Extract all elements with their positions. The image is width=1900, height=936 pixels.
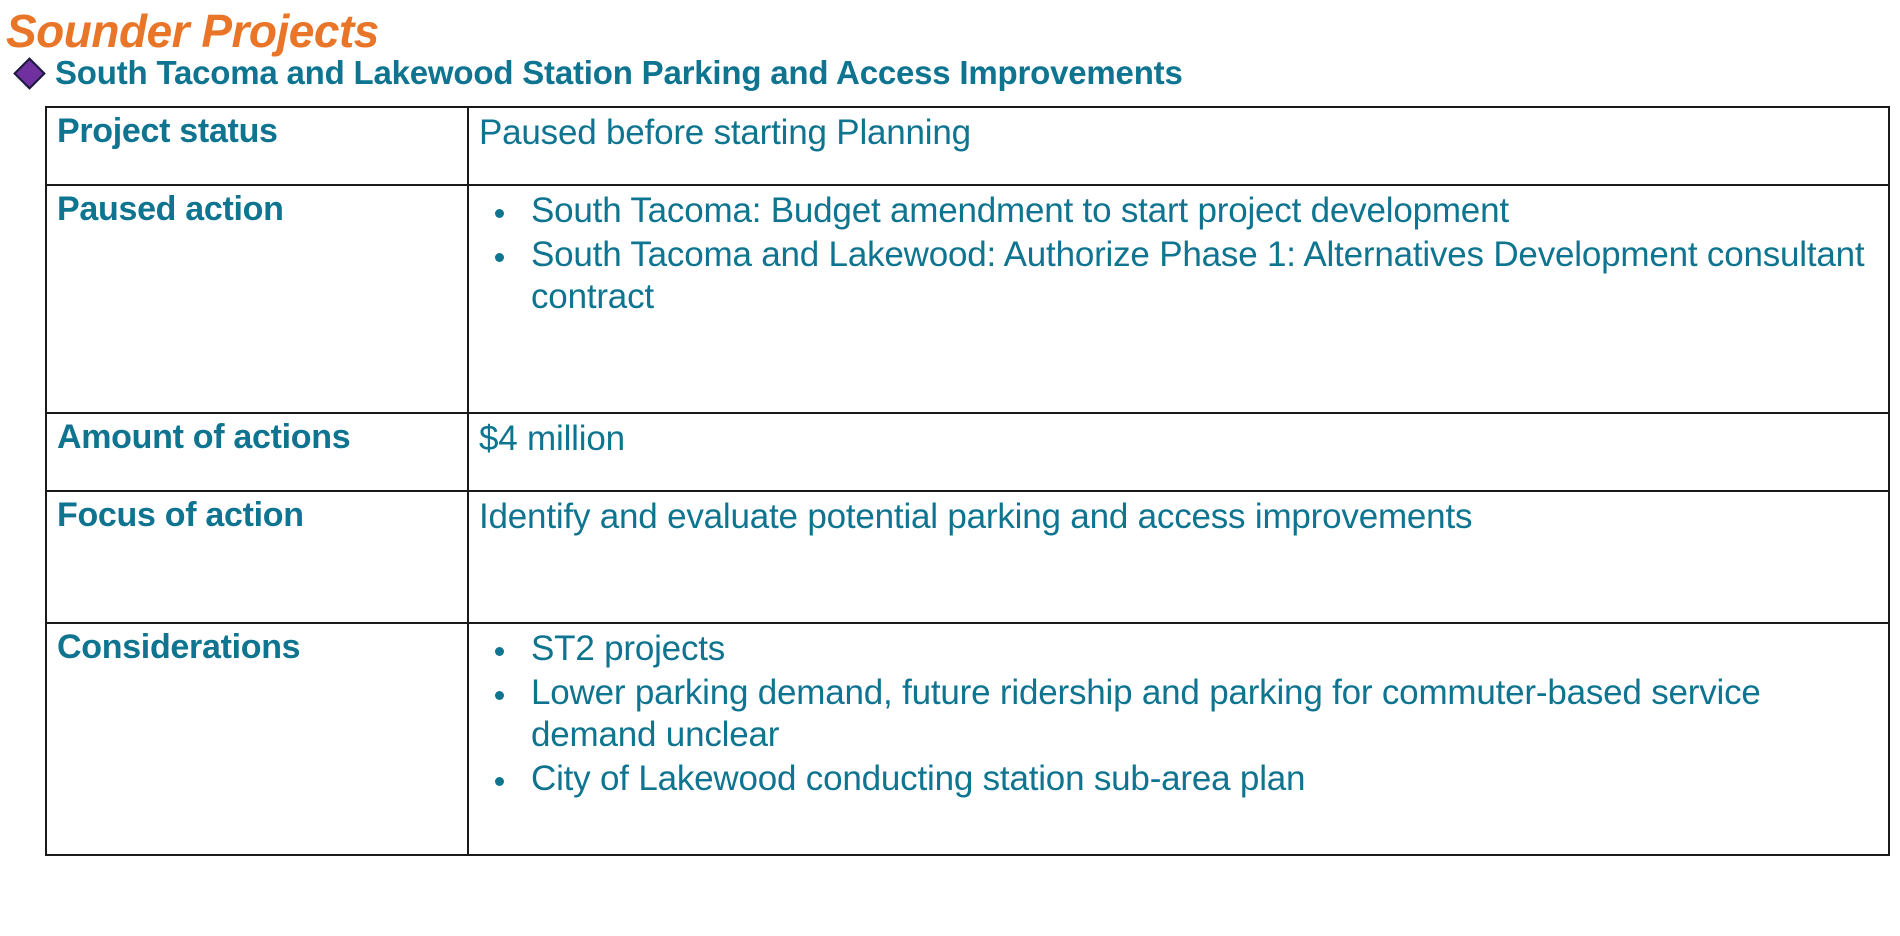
row-label-project-status: Project status	[46, 107, 468, 185]
bullet-list: ST2 projects Lower parking demand, futur…	[479, 628, 1878, 801]
row-label-considerations: Considerations	[46, 623, 468, 855]
row-value-amount-of-actions: $4 million	[468, 413, 1889, 491]
list-item: ST2 projects	[479, 628, 1878, 671]
row-label-focus-of-action: Focus of action	[46, 491, 468, 623]
list-item: Lower parking demand, future ridership a…	[479, 672, 1878, 757]
row-label-amount-of-actions: Amount of actions	[46, 413, 468, 491]
list-item: South Tacoma: Budget amendment to start …	[479, 190, 1878, 233]
table-row: Focus of action Identify and evaluate po…	[46, 491, 1889, 623]
row-label-paused-action: Paused action	[46, 185, 468, 413]
bullet-list: South Tacoma: Budget amendment to start …	[479, 190, 1878, 319]
value-line: $4 million	[479, 418, 1878, 461]
row-value-project-status: Paused before starting Planning	[468, 107, 1889, 185]
slide-canvas: Sounder Projects South Tacoma and Lakewo…	[0, 0, 1900, 936]
table-row: Project status Paused before starting Pl…	[46, 107, 1889, 185]
subtitle-text: South Tacoma and Lakewood Station Parkin…	[55, 56, 1183, 89]
value-line: Identify and evaluate potential parking …	[479, 496, 1878, 539]
row-value-paused-action: South Tacoma: Budget amendment to start …	[468, 185, 1889, 413]
value-line: Paused before starting Planning	[479, 112, 1878, 155]
purple-diamond-icon	[13, 57, 46, 90]
table-row: Considerations ST2 projects Lower parkin…	[46, 623, 1889, 855]
row-value-considerations: ST2 projects Lower parking demand, futur…	[468, 623, 1889, 855]
page-title: Sounder Projects	[6, 8, 379, 54]
table-row: Paused action South Tacoma: Budget amend…	[46, 185, 1889, 413]
list-item: South Tacoma and Lakewood: Authorize Pha…	[479, 234, 1878, 319]
list-item: City of Lakewood conducting station sub-…	[479, 758, 1878, 801]
row-value-focus-of-action: Identify and evaluate potential parking …	[468, 491, 1889, 623]
subtitle-row: South Tacoma and Lakewood Station Parkin…	[18, 56, 1183, 89]
table-row: Amount of actions $4 million	[46, 413, 1889, 491]
project-details-table: Project status Paused before starting Pl…	[45, 106, 1890, 856]
